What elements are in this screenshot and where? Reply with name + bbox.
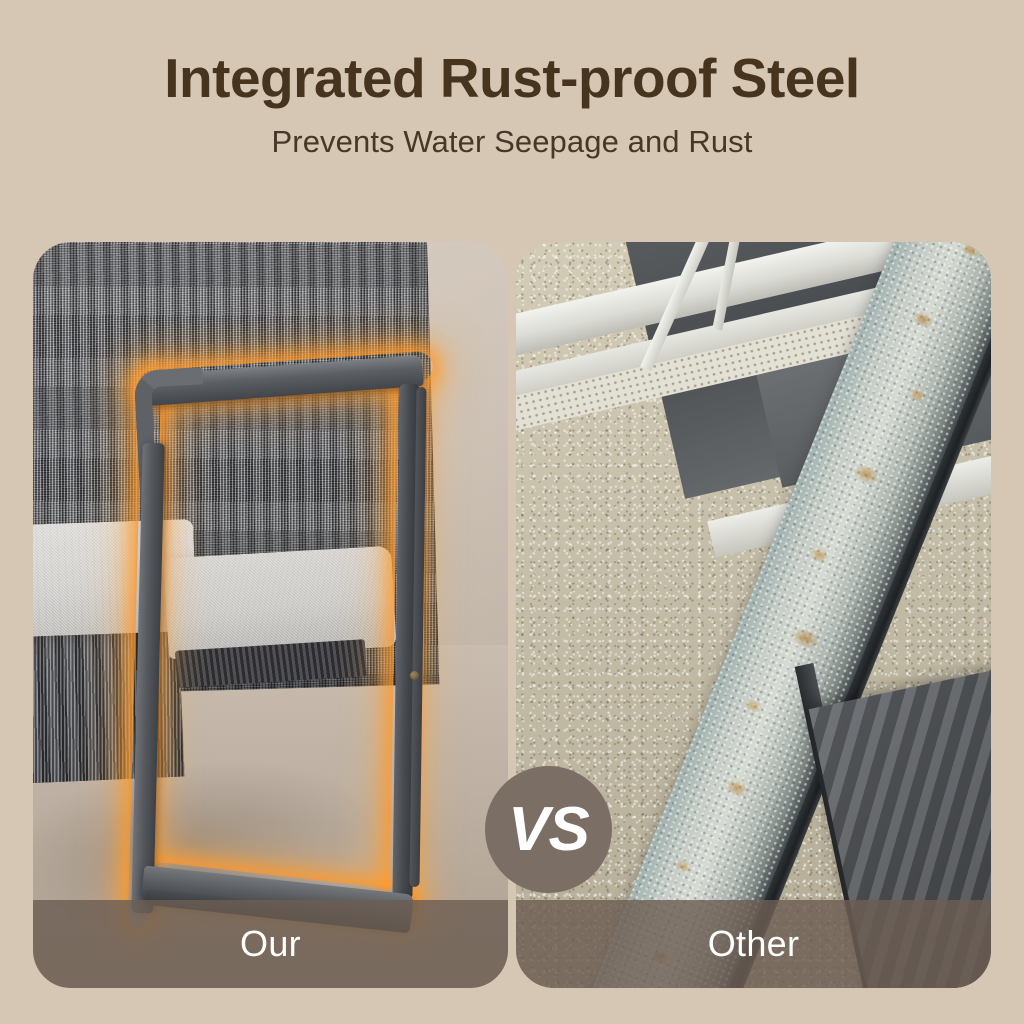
frame-bolt-icon <box>410 671 419 680</box>
page-title: Integrated Rust-proof Steel <box>0 0 1024 110</box>
our-product-photo <box>33 242 508 988</box>
panel-label-other: Other <box>516 900 991 988</box>
vs-badge-label: VS <box>508 799 589 861</box>
page-subtitle: Prevents Water Seepage and Rust <box>0 110 1024 160</box>
header: Integrated Rust-proof Steel Prevents Wat… <box>0 0 1024 160</box>
comparison-panel-our: Our <box>33 242 508 988</box>
vs-badge: VS <box>485 766 612 893</box>
comparison-section: Our Other VS <box>33 242 991 988</box>
panel-label-our: Our <box>33 900 508 988</box>
